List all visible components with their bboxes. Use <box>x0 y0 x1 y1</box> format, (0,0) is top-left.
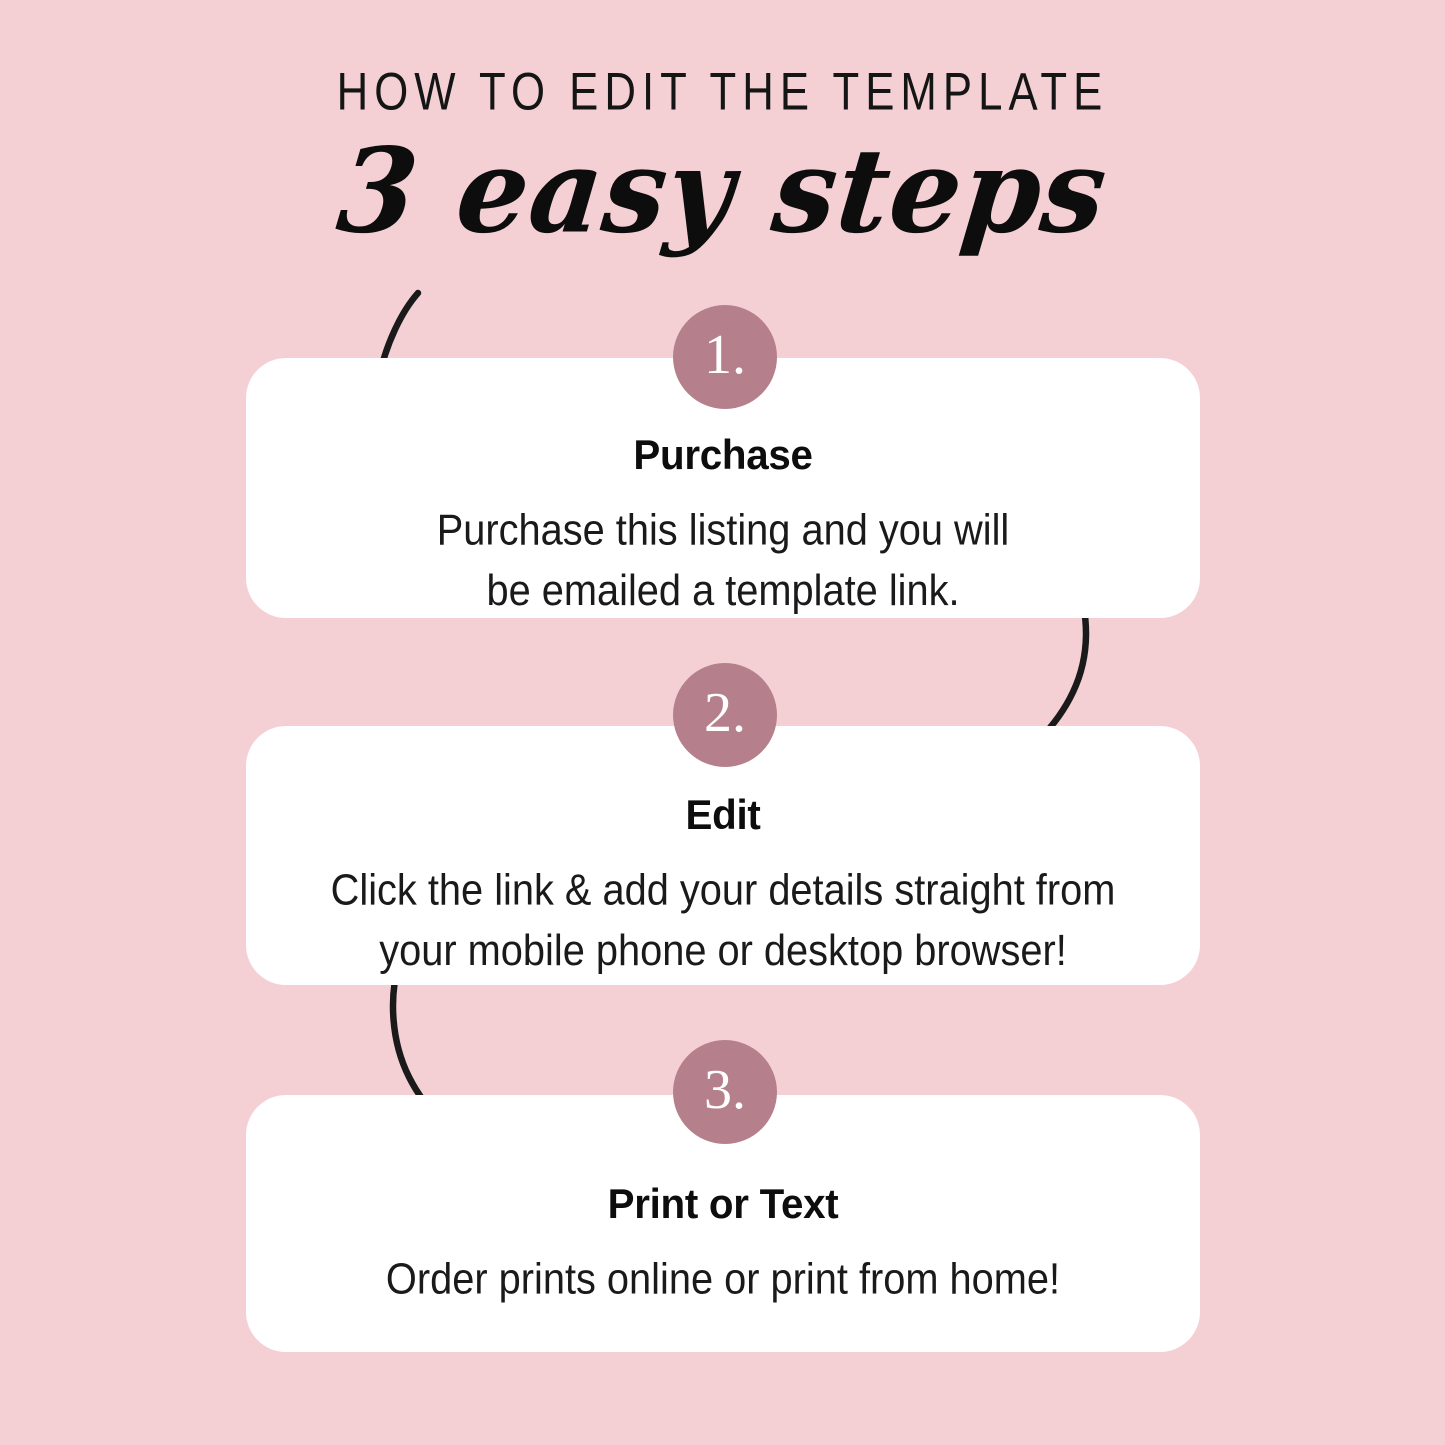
page-title: 3 easy steps <box>0 123 1445 259</box>
step-card-1-content: Purchase Purchase this listing and you w… <box>246 434 1200 613</box>
step-2-body-line-2: your mobile phone or desktop browser! <box>299 920 1147 980</box>
step-3-body: Order prints online or print from home! <box>260 1249 1185 1309</box>
step-number-badge-3: 3. <box>673 1040 777 1144</box>
step-2-body: Click the link & add your details straig… <box>260 860 1185 980</box>
page-eyebrow: HOW TO EDIT THE TEMPLATE <box>51 60 1395 122</box>
step-2-body-line-1: Click the link & add your details straig… <box>299 860 1147 920</box>
step-1-body: Purchase this listing and you will be em… <box>260 500 1185 620</box>
step-2-title: Edit <box>265 794 1181 836</box>
step-3-body-line-1: Order prints online or print from home! <box>299 1249 1147 1309</box>
step-number-badge-1: 1. <box>673 305 777 409</box>
step-1-body-line-1: Purchase this listing and you will <box>299 500 1147 560</box>
step-1-body-line-2: be emailed a template link. <box>299 560 1147 620</box>
infographic-canvas: HOW TO EDIT THE TEMPLATE 3 easy steps Pu… <box>0 0 1445 1445</box>
step-1-title: Purchase <box>265 434 1181 476</box>
step-card-3-content: Print or Text Order prints online or pri… <box>246 1183 1200 1306</box>
step-number-badge-2: 2. <box>673 663 777 767</box>
step-3-title: Print or Text <box>265 1183 1181 1225</box>
step-card-2-content: Edit Click the link & add your details s… <box>246 794 1200 973</box>
